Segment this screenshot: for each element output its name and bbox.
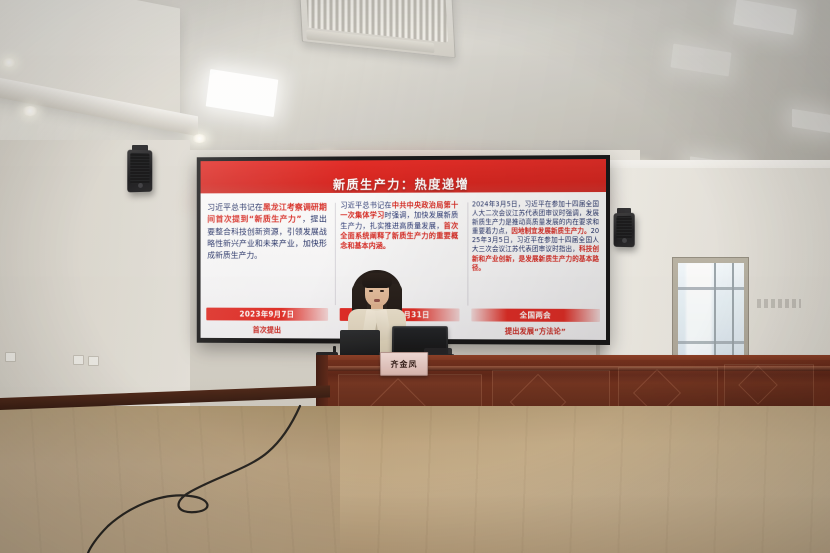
col1-quote: “新质生产力” — [249, 214, 302, 224]
door-rail — [678, 341, 744, 344]
downlight-icon — [192, 134, 207, 143]
slide-column-2-text: 习近平总书记在中共中央政治局第十一次集体学习时强调，加快发展新质生产力，扎实推进… — [340, 200, 458, 251]
slide-column-1: 习近平总书记在黑龙江考察调研期间首次提到“新质生产力”，提出要整合科技创新资源，… — [201, 193, 334, 339]
conference-room-photo: 新质生产力：热度递增 习近平总书记在黑龙江考察调研期间首次提到“新质生产力”，提… — [0, 0, 830, 553]
slide-caption-1: 首次提出 — [201, 324, 334, 335]
col3-para1-highlight: 因地制宜发展新质生产力。 — [511, 227, 590, 235]
floor-left-area — [0, 406, 340, 553]
slide-caption-3: 提出发展“方法论” — [465, 325, 606, 337]
hair-fringe — [362, 273, 392, 288]
downlight-icon — [2, 58, 16, 67]
slide-badge-date-1: 2023年9月7日 — [206, 308, 327, 321]
nameplate-text: 齐金凤 — [390, 359, 417, 370]
slide-column-3: 2024年3月5日，习近平在参加十四届全国人大二次会议江苏代表团审议时强调，发展… — [465, 192, 606, 340]
wall-socket — [88, 356, 99, 366]
left-wall — [0, 140, 190, 430]
slide-column-3-text: 2024年3月5日，习近平在参加十四届全国人大二次会议江苏代表团审议时强调，发展… — [472, 200, 599, 273]
wall-speaker-icon — [614, 213, 635, 248]
wall-sign — [757, 299, 801, 308]
speaker-tweeter — [138, 183, 143, 188]
eye-right — [380, 290, 384, 292]
eye-left — [369, 290, 373, 292]
col1-prefix: 习近平总书记在 — [207, 202, 263, 212]
downlight-icon — [22, 106, 38, 116]
slide-badge-3: 全国两会 — [471, 309, 600, 322]
nameplate: 齐金凤 — [380, 352, 428, 376]
wall-socket — [5, 352, 16, 362]
speaker-grill — [616, 216, 631, 239]
speaker-tweeter — [622, 238, 627, 243]
secondary-monitor[interactable] — [340, 330, 380, 358]
screen-title: 新质生产力：热度递增 — [201, 173, 606, 193]
wall-socket — [73, 355, 84, 365]
speaker-grill — [130, 153, 149, 184]
wall-speaker-icon — [127, 150, 152, 193]
door-rail — [678, 287, 744, 290]
col2-prefix: 习近平总书记在 — [340, 201, 391, 210]
mouth — [374, 299, 380, 302]
slide-column-1-text: 习近平总书记在黑龙江考察调研期间首次提到“新质生产力”，提出要整合科技创新资源，… — [207, 201, 327, 261]
